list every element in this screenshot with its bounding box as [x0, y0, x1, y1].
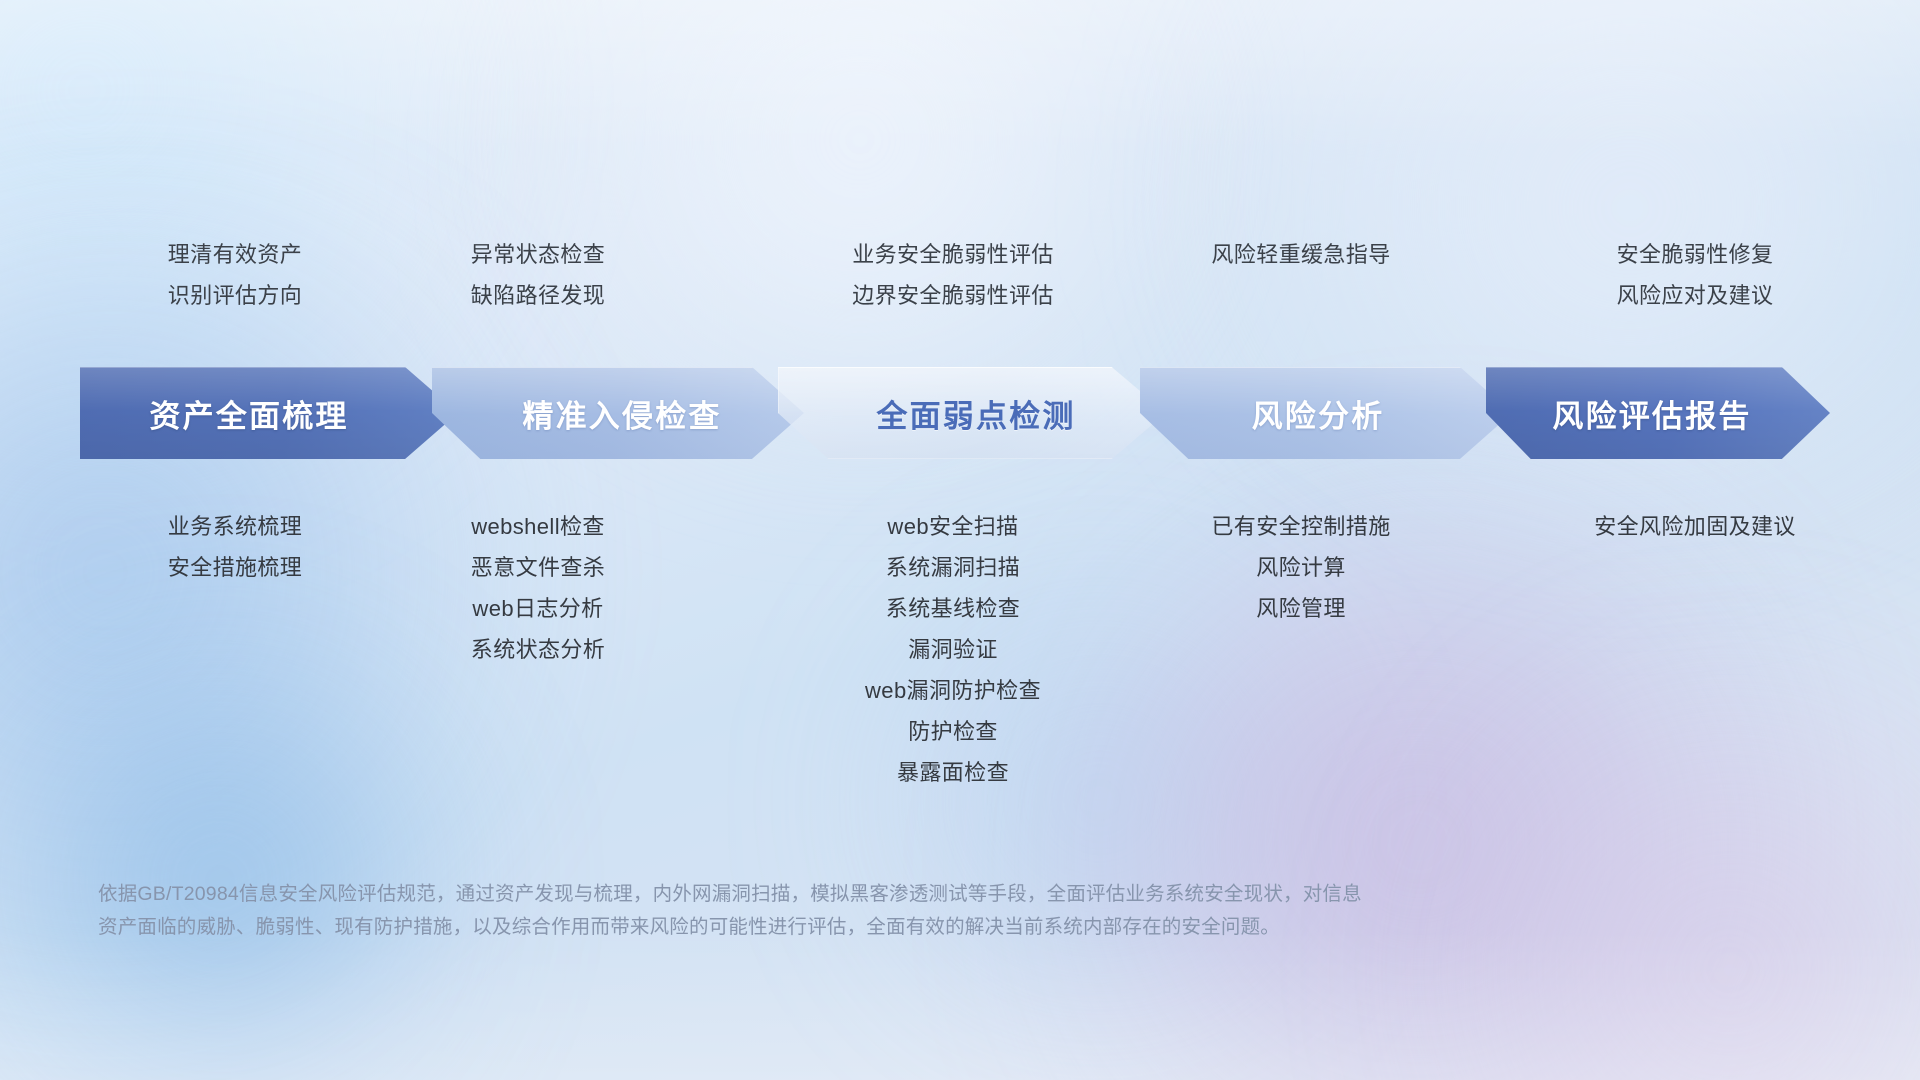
stage-3-bottom-item: web漏洞防护检查	[718, 670, 1188, 711]
stage-4-top-list: 风险轻重缓急指导	[1086, 234, 1516, 275]
stage-1-top-list: 理清有效资产 识别评估方向	[40, 234, 430, 316]
footer-line-2: 资产面临的威胁、脆弱性、现有防护措施，以及综合作用而带来风险的可能性进行评估，全…	[98, 911, 1758, 944]
stage-chevron-band: 资产全面梳理 精准入侵检查 全面弱点检测 风险分析 风险评估报告	[0, 367, 1920, 459]
stage-3-bottom-item: 暴露面检查	[718, 752, 1188, 793]
stage-3-label: 全面弱点检测	[876, 391, 1075, 436]
stage-1-chevron[interactable]: 资产全面梳理	[80, 367, 458, 459]
stage-2-bottom-list: webshell检查 恶意文件查杀 web日志分析 系统状态分析	[393, 506, 683, 670]
stage-2-label: 精准入侵检查	[522, 391, 721, 436]
stage-1-top-item: 理清有效资产	[40, 234, 430, 275]
process-diagram: 理清有效资产 识别评估方向 异常状态检查 缺陷路径发现 业务安全脆弱性评估 边界…	[0, 0, 1920, 1080]
stage-3-top-item: 边界安全脆弱性评估	[718, 275, 1188, 316]
stage-2-bottom-item: 恶意文件查杀	[393, 547, 683, 588]
stage-3-bottom-item: 漏洞验证	[718, 629, 1188, 670]
stage-5-bottom-list: 安全风险加固及建议	[1480, 506, 1910, 547]
stage-4-bottom-item: 风险管理	[1086, 588, 1516, 629]
stage-1-bottom-item: 安全措施梳理	[40, 547, 430, 588]
stage-5-label: 风险评估报告	[1552, 391, 1751, 436]
stage-5-top-item: 风险应对及建议	[1480, 275, 1910, 316]
footer-description: 依据GB/T20984信息安全风险评估规范，通过资产发现与梳理，内外网漏洞扫描，…	[98, 878, 1758, 944]
stage-5-bottom-item: 安全风险加固及建议	[1480, 506, 1910, 547]
stage-2-chevron[interactable]: 精准入侵检查	[432, 367, 804, 459]
stage-2-bottom-item: web日志分析	[393, 588, 683, 629]
stage-3-bottom-item: 防护检查	[718, 711, 1188, 752]
stage-2-top-item: 缺陷路径发现	[393, 275, 683, 316]
stage-3-chevron[interactable]: 全面弱点检测	[778, 367, 1166, 459]
stage-1-bottom-item: 业务系统梳理	[40, 506, 430, 547]
stage-5-top-item: 安全脆弱性修复	[1480, 234, 1910, 275]
stage-2-top-list: 异常状态检查 缺陷路径发现	[393, 234, 683, 316]
stage-5-chevron[interactable]: 风险评估报告	[1486, 367, 1830, 459]
stage-1-top-item: 识别评估方向	[40, 275, 430, 316]
stage-5-top-list: 安全脆弱性修复 风险应对及建议	[1480, 234, 1910, 316]
stage-4-bottom-item: 风险计算	[1086, 547, 1516, 588]
stage-4-bottom-list: 已有安全控制措施 风险计算 风险管理	[1086, 506, 1516, 629]
stage-2-top-item: 异常状态检查	[393, 234, 683, 275]
stage-2-bottom-item: webshell检查	[393, 506, 683, 547]
footer-line-1: 依据GB/T20984信息安全风险评估规范，通过资产发现与梳理，内外网漏洞扫描，…	[98, 878, 1758, 911]
stage-2-bottom-item: 系统状态分析	[393, 629, 683, 670]
stage-4-label: 风险分析	[1252, 391, 1385, 436]
stage-4-chevron[interactable]: 风险分析	[1140, 367, 1512, 459]
stage-4-top-item: 风险轻重缓急指导	[1086, 234, 1516, 275]
stage-1-bottom-list: 业务系统梳理 安全措施梳理	[40, 506, 430, 588]
stage-4-bottom-item: 已有安全控制措施	[1086, 506, 1516, 547]
stage-1-label: 资产全面梳理	[149, 391, 348, 436]
